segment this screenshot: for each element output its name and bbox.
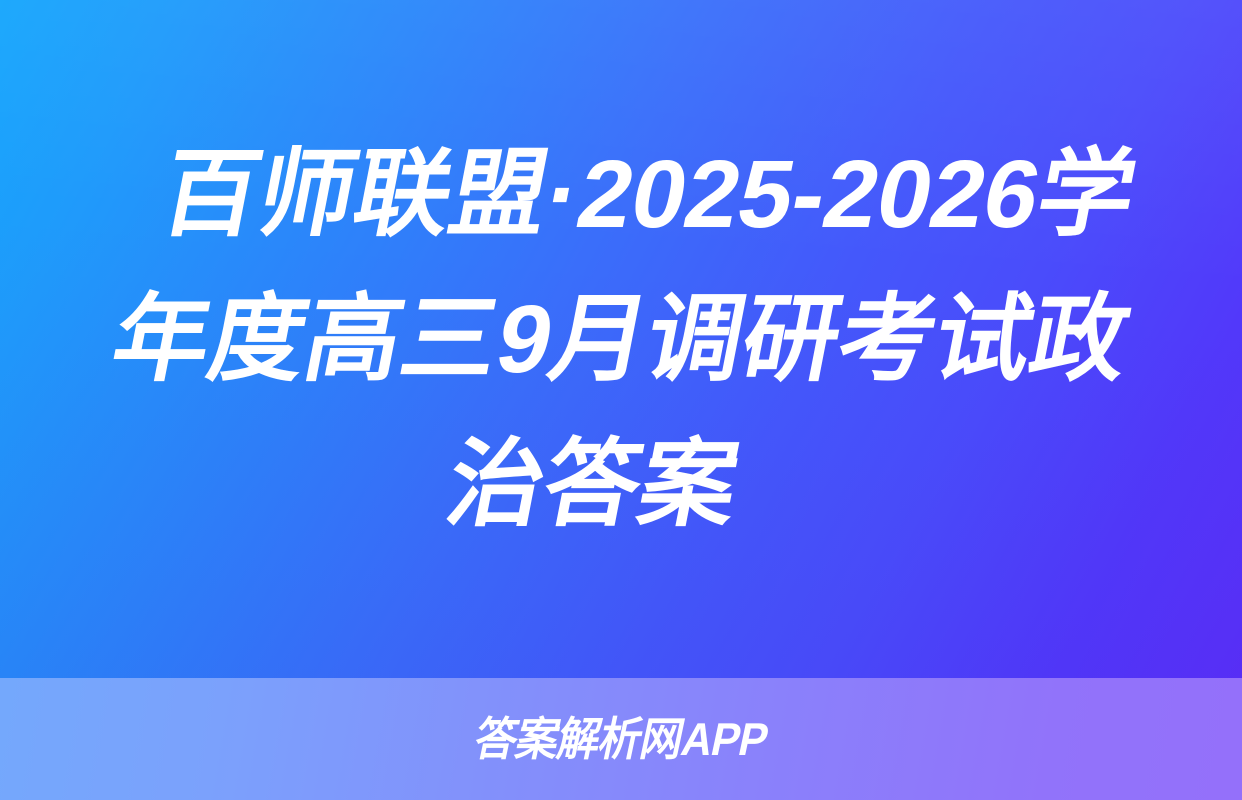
app-watermark-label: 答案解析网APP [470,716,771,762]
page-title: 百师联盟·2025-2026学年度高三9月调研考试政治答案 [53,122,1190,557]
poster-canvas: 百师联盟·2025-2026学年度高三9月调研考试政治答案 答案解析网APP [0,0,1242,800]
hero-content-area: 百师联盟·2025-2026学年度高三9月调研考试政治答案 [0,0,1242,678]
footer-watermark-bar: 答案解析网APP [0,678,1242,800]
